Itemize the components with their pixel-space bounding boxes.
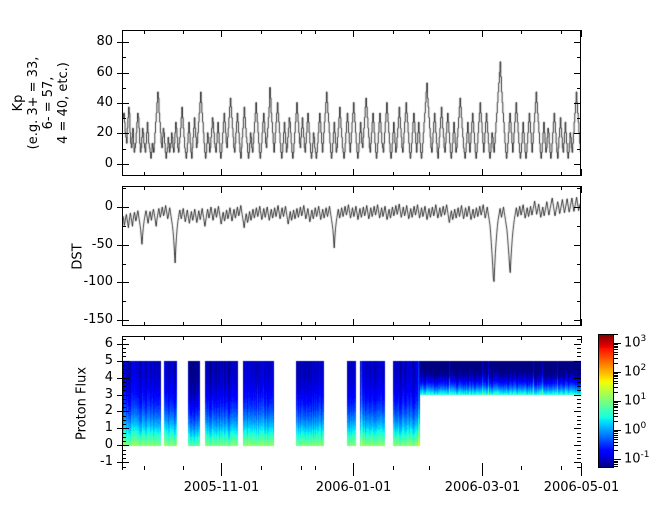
tick-label: 4 bbox=[105, 370, 113, 385]
tick-label: -50 bbox=[92, 237, 113, 252]
colorbar-tick-label: 101 bbox=[624, 392, 646, 408]
figure-root: Kp(e.g. 3+ = 33,6- = 57,4 = 40, etc.) 02… bbox=[0, 0, 665, 523]
proton-flux-heatmap-canvas bbox=[123, 337, 581, 470]
tick-label: 6 bbox=[105, 336, 113, 351]
axis-title: Kp(e.g. 3+ = 33,6- = 57,4 = 40, etc.) bbox=[11, 3, 71, 203]
colorbar-tick-label: 100 bbox=[624, 421, 646, 437]
x-tick-label: 2006-05-01 bbox=[522, 480, 642, 495]
dst-series-canvas bbox=[123, 187, 581, 326]
x-tick-label: 2005-11-01 bbox=[162, 480, 282, 495]
colorbar-tick-label: 103 bbox=[624, 334, 646, 350]
axis-title: Proton Flux bbox=[74, 303, 89, 503]
tick-label: 80 bbox=[96, 34, 113, 49]
tick-label: 40 bbox=[96, 95, 113, 110]
x-tick-label: 2006-01-01 bbox=[294, 480, 414, 495]
kp-series-canvas bbox=[123, 31, 581, 176]
tick-label: 0 bbox=[105, 199, 113, 214]
tick-label: 2 bbox=[105, 403, 113, 418]
tick-label: 20 bbox=[96, 125, 113, 140]
tick-label: 3 bbox=[105, 387, 113, 402]
colorbar-tick-label: 102 bbox=[624, 363, 646, 379]
tick-label: -1 bbox=[100, 454, 113, 469]
tick-label: -100 bbox=[83, 274, 113, 289]
tick-label: 60 bbox=[96, 65, 113, 80]
tick-label: 0 bbox=[105, 156, 113, 171]
tick-label: 5 bbox=[105, 353, 113, 368]
colorbar-frame bbox=[598, 334, 614, 468]
tick-label: 1 bbox=[105, 420, 113, 435]
colorbar-tick-label: 10-1 bbox=[624, 450, 650, 466]
tick-label: 0 bbox=[105, 437, 113, 452]
